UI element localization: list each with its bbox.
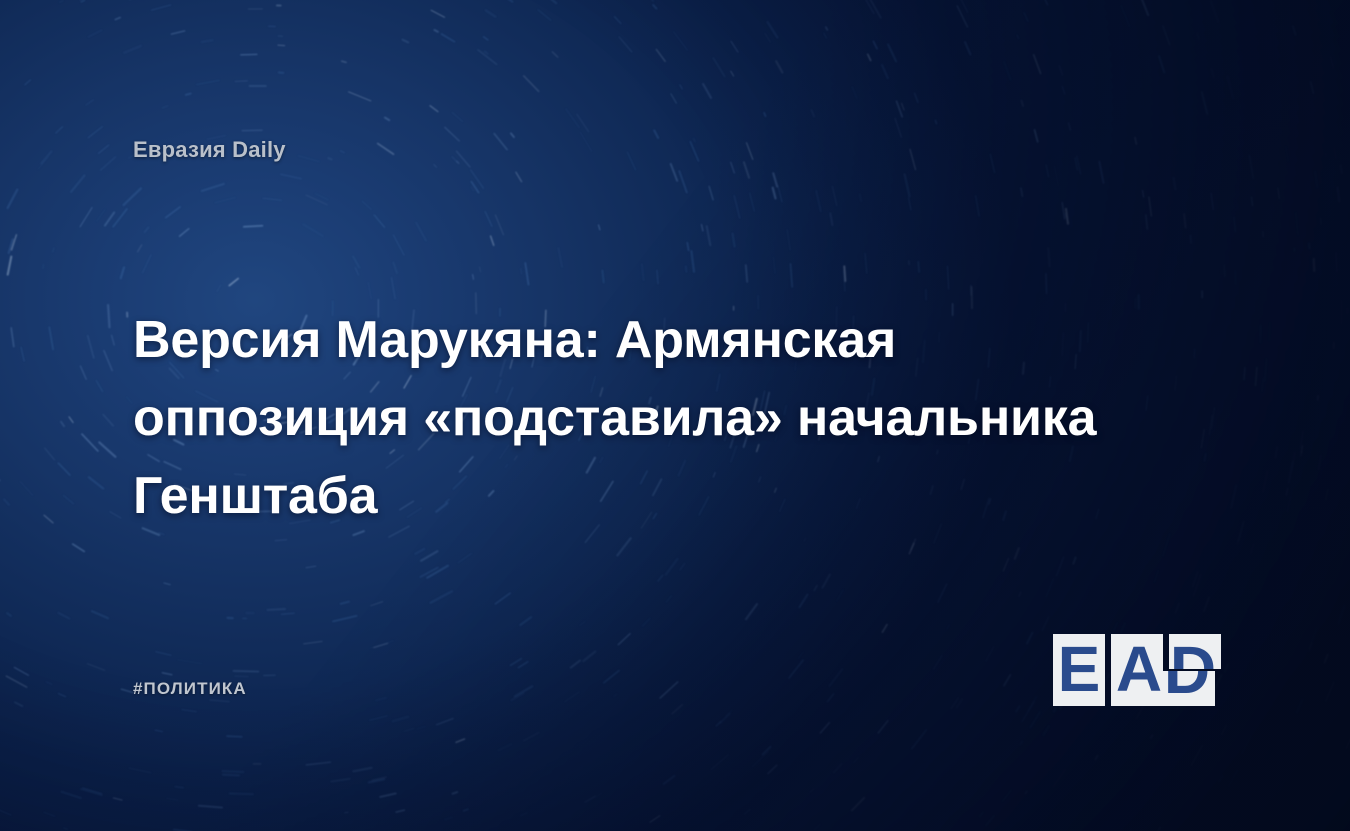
page-title: Версия Марукяна: Армянская оппозиция «по… <box>133 301 1143 535</box>
brand-logotype: Евразия Daily <box>133 137 286 163</box>
cover-content: Евразия Daily Версия Марукяна: Армянская… <box>0 0 1350 831</box>
category-hashtag: #ПОЛИТИКА <box>133 679 247 699</box>
news-cover-card: Евразия Daily Версия Марукяна: Армянская… <box>0 0 1350 831</box>
ead-letter-a: A <box>1116 634 1162 705</box>
ead-letter-e: E <box>1058 634 1101 705</box>
ead-logo: E A D D <box>1053 634 1221 706</box>
